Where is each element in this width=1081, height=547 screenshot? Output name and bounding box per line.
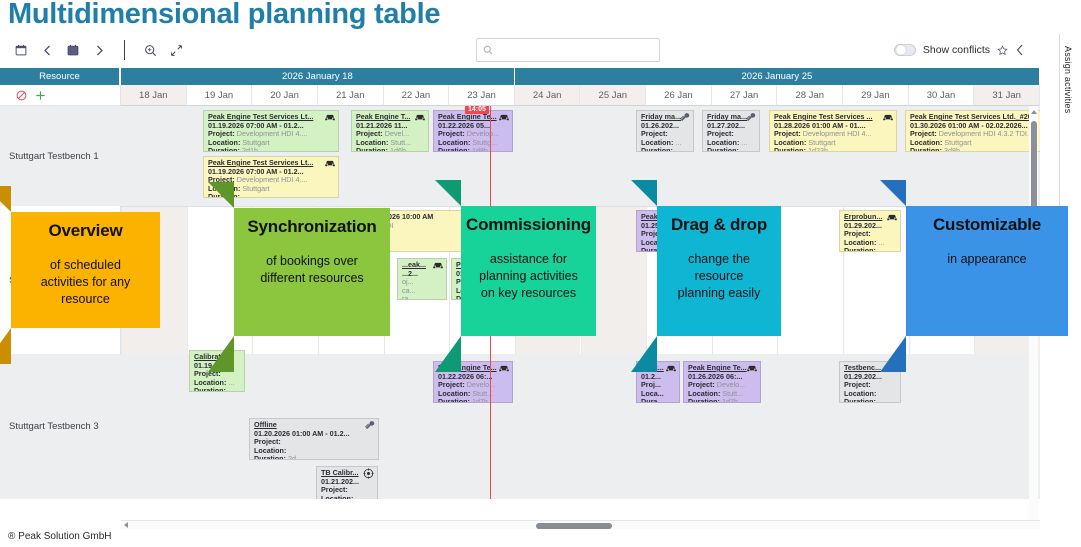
card-location-value: Stuttgart <box>242 139 269 147</box>
card-location-label: Loca... <box>641 390 664 398</box>
horizontal-scroll-thumb[interactable] <box>536 523 612 529</box>
card-duration: Duration: 1d23h <box>774 147 893 152</box>
card-project-label: Project: <box>208 130 235 138</box>
card-location-label: Location: <box>321 495 353 499</box>
scroll-left-arrow-icon[interactable] <box>124 522 128 528</box>
card-location: Location: ... <box>844 239 897 248</box>
zoom-icon[interactable] <box>137 37 163 63</box>
car-icon <box>665 363 677 373</box>
car-icon <box>324 158 336 168</box>
card-location-value: Stuttgart <box>808 139 835 147</box>
card-location: Location: ... <box>641 139 690 148</box>
card-location-label: Location: <box>844 390 876 398</box>
card-location: Location: Stuttg... <box>438 139 509 148</box>
card-location-value: Stutt... <box>722 390 743 398</box>
card-duration-label: Duration: <box>844 398 876 403</box>
card-project: Project: Development HDI 4.3.2 TDI... <box>910 130 1040 139</box>
day-header-25-jan[interactable]: 25 Jan <box>580 85 646 106</box>
card-location: Location: <box>844 390 897 399</box>
card-duration-value: 2d <box>288 455 296 460</box>
day-header-27-jan[interactable]: 27 Jan <box>712 85 778 106</box>
horizontal-scrollbar[interactable] <box>121 520 1040 529</box>
card-project-value: Development HDI 4.3.2 TDI... <box>939 130 1033 138</box>
card-duration-label: Duration: <box>844 247 876 252</box>
scroll-up-arrow-icon[interactable] <box>1031 110 1037 114</box>
card-location-value: ... <box>741 139 747 147</box>
callout-heading: Overview <box>48 221 122 241</box>
resource-row-3[interactable]: Stuttgart Testbench 3 <box>0 354 121 499</box>
car-icon <box>746 363 758 373</box>
card-duration-value: ... <box>741 147 747 152</box>
toolbar-divider <box>124 40 125 60</box>
callout-sub-line: planning activities <box>479 268 578 285</box>
callout-sub-line: different resources <box>260 270 363 287</box>
star-icon[interactable] <box>997 45 1008 56</box>
day-header-18-jan[interactable]: 18 Jan <box>121 85 187 106</box>
card-title[interactable]: Peak Engine Test Services Lt... <box>208 159 335 168</box>
plus-icon[interactable] <box>35 90 46 101</box>
car-icon <box>886 212 898 222</box>
assign-activities-label: Assign activities <box>1063 46 1073 113</box>
callout-sub-line: resource <box>41 291 131 308</box>
card-daterange: 01.30.2026 01:00 AM - 02.02.2026... <box>910 122 1040 131</box>
card-duration-value: 2d1h <box>242 147 258 152</box>
activity-card[interactable]: Peak Engine Te...01.26.2026 06:...Projec… <box>683 361 761 403</box>
callout-sub-line: of scheduled <box>41 257 131 274</box>
page-title: Multidimensional planning table <box>8 0 440 31</box>
card-duration: Duration: 3d8h <box>910 147 1040 152</box>
card-project-label: Project: <box>688 381 715 389</box>
card-daterange: 01.26.2026 06:... <box>688 373 757 382</box>
card-duration-value: 1d23h <box>808 147 828 152</box>
card-duration-value: 3d8h <box>944 147 960 152</box>
day-header-19-jan[interactable]: 19 Jan <box>187 85 253 106</box>
card-duration-label: Duration: <box>774 147 806 152</box>
card-project: Project: <box>321 486 374 495</box>
day-header-row: 18 Jan19 Jan20 Jan21 Jan22 Jan23 Jan24 J… <box>0 85 1040 106</box>
car-icon <box>432 260 444 270</box>
card-location-value: ... <box>878 239 884 247</box>
card-location-value: ... <box>228 379 234 387</box>
show-conflicts-toggle[interactable] <box>894 44 916 56</box>
card-project: Project: <box>254 438 375 447</box>
card-project: Proj... <box>641 381 676 390</box>
day-header-29-jan[interactable]: 29 Jan <box>843 85 909 106</box>
activity-card[interactable]: Peak Engine Te...01.22.2026 05...Project… <box>433 110 513 152</box>
card-project-value: oj... <box>402 278 414 286</box>
resource-column-header: Resource <box>0 68 121 85</box>
day-header-23-jan[interactable]: 23 Jan <box>449 85 515 106</box>
callout-subtext: in appearance <box>947 251 1026 268</box>
tool-icon <box>364 420 376 430</box>
activity-card[interactable]: Peak Engine Test Services Ltd._#20...01.… <box>905 110 1040 152</box>
card-duration-value: ra... <box>402 295 414 300</box>
card-project: Project: Develop... <box>438 130 509 139</box>
card-location: Location: Stuttgart <box>910 139 1040 148</box>
card-project-label: Proj... <box>641 381 661 389</box>
card-duration-value: ... <box>878 247 884 252</box>
card-daterange: 01.26.202... <box>641 122 690 131</box>
card-duration-label: Duration: <box>910 147 942 152</box>
card-duration-value: 1d6h <box>390 147 406 152</box>
card-location-label: Location: <box>254 447 286 455</box>
card-project-value: Development HDI 4... <box>803 130 872 138</box>
activity-card[interactable]: Friday ma...01.26.202...Project: Locatio… <box>636 110 694 152</box>
callout-sub-line: activities for any <box>41 274 131 291</box>
card-location: ca... <box>402 287 443 296</box>
card-duration-value: ... <box>675 147 681 152</box>
card-location: Location: Stutt... <box>356 139 425 148</box>
card-project: oj... <box>402 278 443 287</box>
today-calendar-icon[interactable] <box>60 37 86 63</box>
search-input[interactable] <box>476 38 660 62</box>
card-daterange: ...2... <box>402 270 443 279</box>
prev-chevron-icon[interactable] <box>34 37 60 63</box>
callout-drag-drop: Drag & dropchange theresourceplanning ea… <box>657 206 781 336</box>
card-duration-label: Duration: <box>688 398 720 403</box>
search-icon <box>483 45 493 55</box>
car-icon <box>324 112 336 122</box>
callout-heading: Commissioning <box>466 215 591 235</box>
callout-sub-line: on key resources <box>479 285 578 302</box>
callout-commissioning: Commissioningassistance forplanning acti… <box>461 206 596 336</box>
card-title[interactable]: Peak Engine Test Services Lt... <box>208 113 335 122</box>
day-header-26-jan[interactable]: 26 Jan <box>646 85 712 106</box>
car-icon <box>498 363 510 373</box>
callout-heading: Synchronization <box>247 217 376 237</box>
card-location-label: Location: <box>438 139 470 147</box>
day-header-31-jan[interactable]: 31 Jan <box>974 85 1040 106</box>
card-daterange: 01.20.2026 01:00 AM - 01.2... <box>254 430 375 439</box>
car-icon <box>498 112 510 122</box>
car-icon <box>882 112 894 122</box>
card-duration-label: Duration: <box>707 147 739 152</box>
footer-copyright: ® Peak Solution GmbH <box>8 531 112 542</box>
activity-card[interactable]: Peak Engine T...01.21.2026 11...Project:… <box>351 110 429 152</box>
callout-sub-line: change the <box>678 251 761 268</box>
card-project: Project: <box>844 230 897 239</box>
card-duration: ra... <box>402 295 443 300</box>
car-icon <box>414 112 426 122</box>
card-location-label: Location: <box>641 139 673 147</box>
card-location: Location: ... <box>321 495 374 499</box>
card-project-label: Project: <box>321 486 348 494</box>
activity-card[interactable]: Friday ma...01.27.202...Project: Locatio… <box>702 110 760 152</box>
card-project-label: Project: <box>641 130 668 138</box>
card-daterange: 01.22.2026 05... <box>438 122 509 131</box>
card-project-label: Project: <box>844 230 871 238</box>
resource-tools <box>0 85 121 106</box>
card-project-label: Project: <box>844 381 871 389</box>
activity-card[interactable]: Peak Engine Test Services ...01.28.2026 … <box>769 110 897 152</box>
day-header-30-jan[interactable]: 30 Jan <box>909 85 975 106</box>
calendar-icon[interactable] <box>8 37 34 63</box>
callout-heading: Customizable <box>933 215 1041 235</box>
card-location: Location: <box>254 447 375 456</box>
card-daterange: 01.29.202... <box>844 373 897 382</box>
card-project: Project: <box>844 381 897 390</box>
card-project-value: Development HDI 4.... <box>237 130 308 138</box>
card-location-label: Location: <box>356 139 388 147</box>
card-daterange: 01.19.2026 07:00 AM - 01.2... <box>208 122 335 131</box>
card-title[interactable]: Offline <box>254 421 375 430</box>
card-duration-value: 1d8h <box>472 147 488 152</box>
card-duration-value: 1d7h <box>472 398 488 403</box>
card-location-value: ca... <box>402 287 416 295</box>
callout-sub-line: resource <box>678 268 761 285</box>
card-duration: Duration: 1d7h <box>688 398 757 403</box>
card-duration-label: Duration: <box>438 147 470 152</box>
card-duration: Duration: 1d7h <box>438 398 509 403</box>
card-location-label: Location: <box>688 390 720 398</box>
card-title[interactable]: Peak Engine Test Services ... <box>774 113 893 122</box>
callout-subtext: assistance forplanning activitieson key … <box>479 251 578 302</box>
card-project: Project: <box>641 130 690 139</box>
expand-icon[interactable] <box>163 37 189 63</box>
card-location-value: Stutt... <box>390 139 411 147</box>
card-duration-value: ... <box>228 387 234 392</box>
day-header-21-jan[interactable]: 21 Jan <box>318 85 384 106</box>
card-daterange: 01.28.2026 01:00 AM - 01.... <box>774 122 893 131</box>
card-location-value: Stuttg... <box>472 139 497 147</box>
card-daterange: 01.2... <box>641 373 676 382</box>
card-daterange: 01.19.2026 07:00 AM - 01.2... <box>208 168 335 177</box>
day-header-28-jan[interactable]: 28 Jan <box>777 85 843 106</box>
card-location-label: Location: <box>774 139 806 147</box>
callout-synchronization: Synchronizationof bookings overdifferent… <box>234 208 390 336</box>
card-location-value: ... <box>355 495 361 499</box>
card-title[interactable]: Peak Engine Test Services Ltd._#20... <box>910 113 1040 122</box>
card-location-label: Location: <box>438 390 470 398</box>
no-entry-icon[interactable] <box>16 90 27 101</box>
week-header: 2026 January 18 <box>121 68 515 85</box>
card-project-label: Project: <box>438 381 465 389</box>
card-duration-value: 1d7h <box>722 398 738 403</box>
card-location: Location: Stuttgart <box>208 139 335 148</box>
tool-icon <box>679 112 691 122</box>
callout-sub-line: in appearance <box>947 251 1026 268</box>
week-header-row: Resource 2026 January 182026 January 25 <box>0 68 1040 85</box>
callout-heading: Drag & drop <box>671 215 767 235</box>
card-duration: Dura... <box>641 398 676 403</box>
current-time-badge: 14:05 <box>465 106 489 114</box>
card-location: Location: ... <box>194 379 241 388</box>
card-location-value: Stuttgart <box>944 139 971 147</box>
card-duration: Duration: 1d8h <box>438 147 509 152</box>
resource-row-1[interactable]: Stuttgart Testbench 1 <box>0 106 121 206</box>
card-duration-label: Duration: <box>254 455 286 460</box>
card-duration-value: ... <box>878 398 884 403</box>
target-icon <box>363 468 375 478</box>
activity-card[interactable]: Offline01.20.2026 01:00 AM - 01.2...Proj… <box>249 418 379 460</box>
card-duration: Duration: ... <box>641 147 690 152</box>
card-location: Location: ... <box>707 139 756 148</box>
card-duration: Duration: 1d6h <box>356 147 425 152</box>
card-project: Project: Development HDI 4... <box>774 130 893 139</box>
card-duration-label: Duration: <box>208 147 240 152</box>
card-daterange: 01.21.2026 11... <box>356 122 425 131</box>
next-chevron-icon[interactable] <box>86 37 112 63</box>
callout-customizable: Customizablein appearance <box>906 206 1068 336</box>
card-project-value: Develop... <box>467 130 499 138</box>
day-header-20-jan[interactable]: 20 Jan <box>252 85 318 106</box>
card-project: Project: Develo... <box>688 381 757 390</box>
card-duration: Duration: ... <box>707 147 756 152</box>
callout-sub-line: assistance for <box>479 251 578 268</box>
card-duration-label: Duration: <box>356 147 388 152</box>
card-project-label: Project: <box>254 438 281 446</box>
callout-subtext: of bookings overdifferent resources <box>260 253 363 287</box>
assign-activities-panel-tab[interactable]: Assign activities <box>1059 34 1081 230</box>
activity-card[interactable]: Peak Engine Test Services Lt...01.19.202… <box>203 110 339 152</box>
card-project-value: Devel... <box>385 130 409 138</box>
card-location: Location: Stuttgart <box>774 139 893 148</box>
card-duration: Duration: ... <box>194 387 241 392</box>
card-duration-label: Dura... <box>641 398 663 403</box>
card-project-value: Development HDI 4.... <box>237 176 308 184</box>
card-project-label: Project: <box>707 130 734 138</box>
card-duration-label: Duration: <box>438 398 470 403</box>
show-conflicts-label: Show conflicts <box>923 44 990 56</box>
card-duration: Duration: 2d1h <box>208 147 335 152</box>
card-location-label: Location: <box>844 239 876 247</box>
show-conflicts-control[interactable]: Show conflicts <box>894 44 1025 56</box>
card-duration-label: Duration: <box>194 387 226 392</box>
card-location: Location: Stutt... <box>688 390 757 399</box>
activity-card[interactable]: TB Calibr...01.21.202...Project: Locatio… <box>316 466 378 499</box>
card-project: Project: Develo... <box>438 381 509 390</box>
card-project-label: Project: <box>910 130 937 138</box>
card-daterange: 01.27.202... <box>707 122 756 131</box>
callout-sub-line: planning easily <box>678 285 761 302</box>
card-project: Project: <box>707 130 756 139</box>
card-location-label: Location: <box>910 139 942 147</box>
callout-subtext: change theresourceplanning easily <box>678 251 761 302</box>
card-duration-label: Duration: <box>641 147 673 152</box>
card-location-value: ... <box>675 139 681 147</box>
card-location-value: Stuttgart <box>242 185 269 193</box>
card-location-label: Location: <box>194 379 226 387</box>
card-duration: Duration: ... <box>844 398 897 403</box>
card-location-label: Location: <box>707 139 739 147</box>
card-daterange: 01.29.202... <box>844 222 897 231</box>
card-duration: Duration: ... <box>844 247 897 252</box>
callout-overview: Overviewof scheduledactivities for anyre… <box>11 212 160 328</box>
day-header-22-jan[interactable]: 22 Jan <box>384 85 450 106</box>
collapse-chevron-icon[interactable] <box>1015 44 1025 56</box>
callout-sub-line: of bookings over <box>260 253 363 270</box>
activity-card[interactable]: Erprobun...01.29.202...Project: Location… <box>839 210 901 252</box>
callout-subtext: of scheduledactivities for anyresource <box>41 257 131 308</box>
tool-icon <box>745 112 757 122</box>
card-location-label: Location: <box>208 139 240 147</box>
card-location: Loca... <box>641 390 676 399</box>
card-duration: Duration: 2d <box>254 455 375 460</box>
week-header: 2026 January 25 <box>515 68 1040 85</box>
card-location: Location: Stutt... <box>438 390 509 399</box>
card-project-label: Project: <box>356 130 383 138</box>
card-project: Project: Devel... <box>356 130 425 139</box>
card-daterange: 01.22.2026 06:... <box>438 373 509 382</box>
card-project-label: Project: <box>774 130 801 138</box>
card-project-value: Develo... <box>717 381 745 389</box>
day-header-24-jan[interactable]: 24 Jan <box>515 85 581 106</box>
card-project-label: Project: <box>438 130 465 138</box>
card-project: Project: Development HDI 4.... <box>208 130 335 139</box>
activity-card[interactable]: ...eak......2... oj... ca... ra... <box>397 258 447 300</box>
